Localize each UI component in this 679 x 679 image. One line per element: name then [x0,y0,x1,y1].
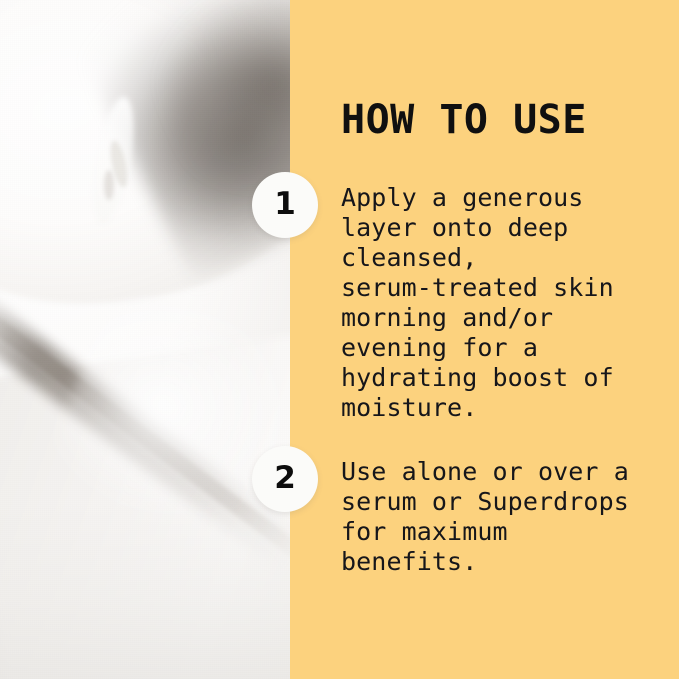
step-number-label-1: 1 [274,189,296,220]
step-number-label-2: 2 [274,463,296,494]
step-number-badge-1: 1 [252,172,318,238]
step-description-2: Use alone or over a serum or Superdrops … [341,457,629,577]
step-description-1: Apply a generous layer onto deep cleanse… [341,183,614,423]
photo-grain-overlay [0,0,290,679]
step-number-badge-2: 2 [252,446,318,512]
product-cream-photo [0,0,290,679]
how-to-use-infographic: HOW TO USE 1 Apply a generous layer onto… [0,0,679,679]
page-title: HOW TO USE [341,100,587,140]
